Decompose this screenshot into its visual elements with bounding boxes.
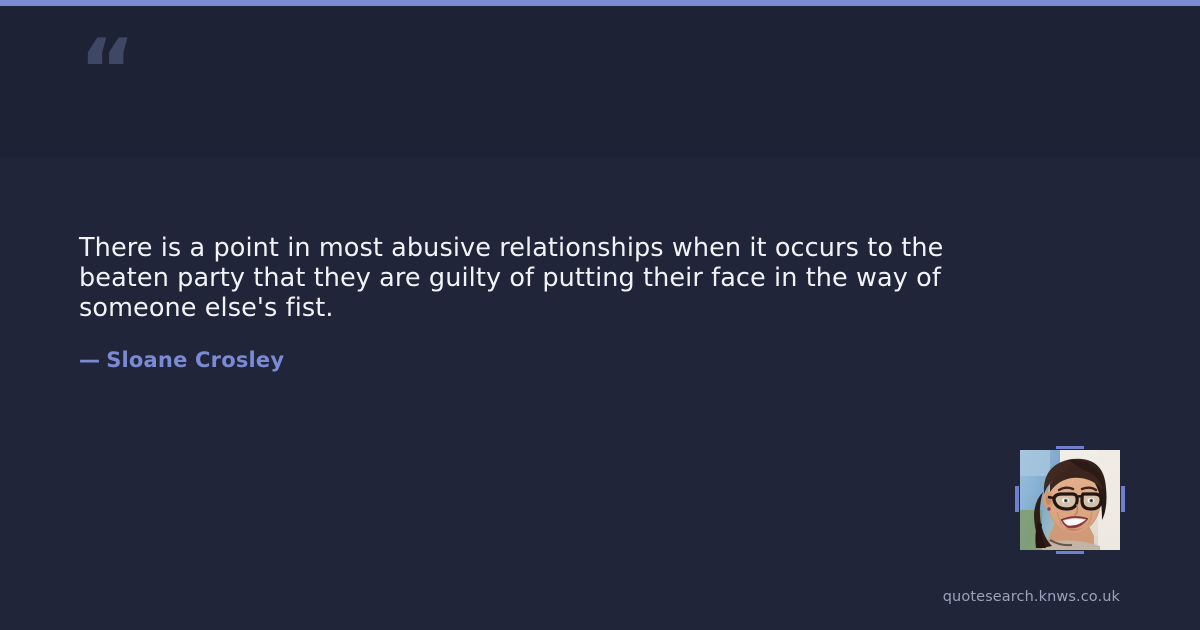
- top-accent-bar: [0, 0, 1200, 6]
- source-url-watermark: quotesearch.knws.co.uk: [943, 589, 1120, 605]
- portrait-handle-top[interactable]: [1056, 446, 1084, 449]
- background-band-upper: [0, 6, 1200, 158]
- background-band-lower: [0, 158, 1200, 630]
- portrait-handle-bottom[interactable]: [1056, 551, 1084, 554]
- author-portrait-image: [1020, 450, 1120, 550]
- author-portrait-container: [1020, 450, 1120, 550]
- portrait-handle-right[interactable]: [1121, 486, 1125, 512]
- quote-card: “ There is a point in most abusive relat…: [0, 0, 1200, 630]
- author-dash: —: [79, 348, 100, 372]
- quote-author: —Sloane Crosley: [79, 348, 284, 372]
- quotation-mark-icon: “: [79, 28, 134, 114]
- portrait-handle-left[interactable]: [1015, 486, 1019, 512]
- author-name: Sloane Crosley: [106, 348, 284, 372]
- quote-text: There is a point in most abusive relatio…: [79, 233, 991, 323]
